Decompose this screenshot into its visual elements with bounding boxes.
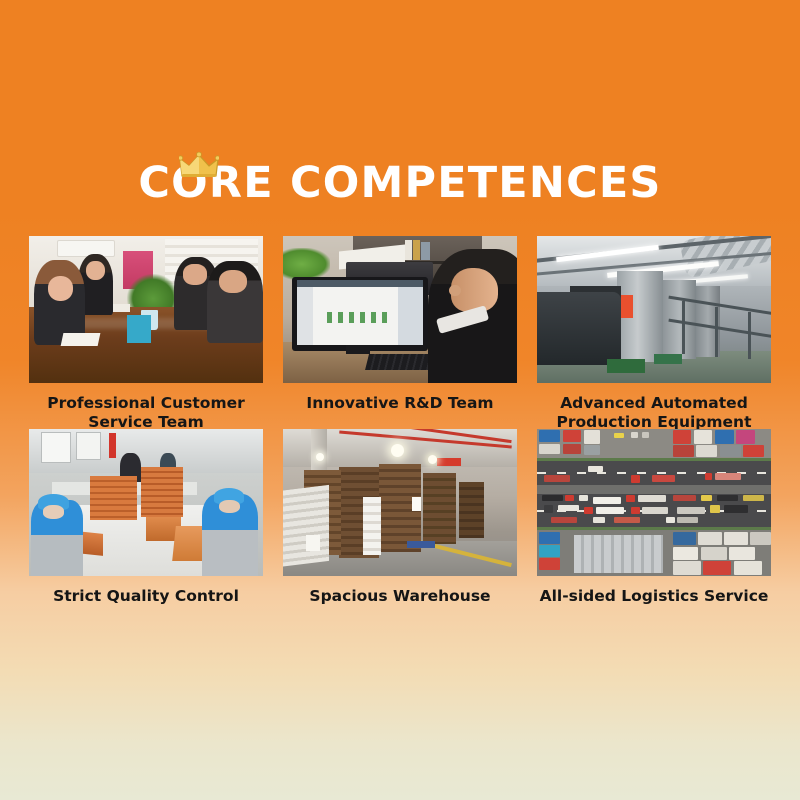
card-professional-customer-service-team[interactable]: Professional Customer Service Team [29, 236, 263, 423]
photo-spacious-warehouse [283, 429, 517, 576]
caption-professional-customer-service-team: Professional Customer Service Team [29, 383, 263, 423]
card-advanced-automated-production-equipment[interactable]: Advanced Automated Production Equipment [537, 236, 771, 423]
competences-grid: Professional Customer Service Team Innov… [29, 236, 771, 616]
card-all-sided-logistics-service[interactable]: All-sided Logistics Service [537, 429, 771, 616]
card-spacious-warehouse[interactable]: Spacious Warehouse [283, 429, 517, 616]
crown-icon [179, 152, 219, 180]
card-strict-quality-control[interactable]: Strict Quality Control [29, 429, 263, 616]
caption-advanced-automated-production-equipment: Advanced Automated Production Equipment [537, 383, 771, 423]
photo-innovative-rd-team [283, 236, 517, 383]
photo-advanced-automated-production-equipment [537, 236, 771, 383]
photo-strict-quality-control [29, 429, 263, 576]
title-block: CORE COMPETENCES [0, 152, 800, 205]
caption-spacious-warehouse: Spacious Warehouse [283, 576, 517, 616]
caption-innovative-rd-team: Innovative R&D Team [283, 383, 517, 423]
photo-all-sided-logistics-service [537, 429, 771, 576]
photo-professional-customer-service-team [29, 236, 263, 383]
caption-strict-quality-control: Strict Quality Control [29, 576, 263, 616]
core-competences-poster: CORE COMPETENCES Professional Customer S… [0, 0, 800, 800]
card-innovative-rd-team[interactable]: Innovative R&D Team [283, 236, 517, 423]
caption-all-sided-logistics-service: All-sided Logistics Service [537, 576, 771, 616]
